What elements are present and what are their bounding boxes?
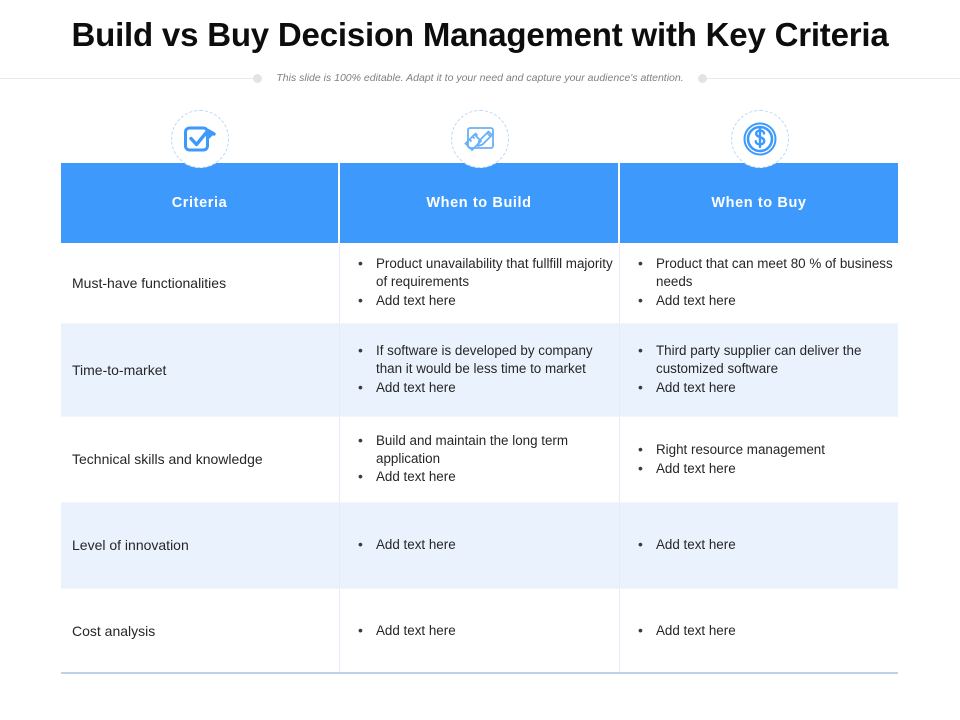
bullet-item: Third party supplier can deliver the cus… (634, 342, 898, 378)
bullet-item: Right resource management (634, 441, 898, 459)
table-row: Cost analysis Add text here Add text her… (61, 589, 898, 674)
decorative-rule-right (707, 78, 960, 79)
buy-bullet-list: Add text here (620, 622, 898, 641)
buy-bullet-list: Third party supplier can deliver the cus… (620, 342, 898, 398)
column-header-criteria: Criteria (61, 163, 340, 243)
cell-build: Build and maintain the long term applica… (340, 417, 620, 502)
cell-buy: Add text here (620, 589, 898, 673)
decorative-rule-left (0, 78, 253, 79)
criteria-label: Technical skills and knowledge (61, 450, 263, 469)
cell-build: Add text here (340, 503, 620, 588)
bullet-item: Build and maintain the long term applica… (354, 432, 619, 468)
table-header-row: Criteria When to Build When to Buy (61, 163, 898, 243)
buy-bullet-list: Add text here (620, 536, 898, 555)
slide-subtitle: This slide is 100% editable. Adapt it to… (262, 72, 697, 84)
cell-buy: Product that can meet 80 % of business n… (620, 243, 898, 323)
cell-build: Product unavailability that fullfill maj… (340, 243, 620, 323)
bullet-item: Add text here (634, 460, 898, 478)
bullet-item: Product that can meet 80 % of business n… (634, 255, 898, 291)
ruler-pencil-icon (462, 122, 498, 156)
bullet-item: Add text here (354, 468, 619, 486)
bullet-item: Add text here (354, 622, 619, 640)
checkbox-check-icon (183, 123, 217, 155)
cell-build: If software is developed by company than… (340, 324, 620, 416)
cell-criteria: Time-to-market (61, 324, 340, 416)
bullet-item: Product unavailability that fullfill maj… (354, 255, 619, 291)
criteria-icon-badge (171, 110, 229, 168)
bullet-item: Add text here (634, 292, 898, 310)
criteria-label: Time-to-market (61, 361, 166, 380)
cell-buy: Third party supplier can deliver the cus… (620, 324, 898, 416)
table-row: Technical skills and knowledge Build and… (61, 417, 898, 503)
table-bottom-rule (61, 672, 898, 674)
bullet-item: If software is developed by company than… (354, 342, 619, 378)
build-bullet-list: Add text here (340, 536, 619, 555)
buy-bullet-list: Product that can meet 80 % of business n… (620, 255, 898, 311)
buy-icon-badge (731, 110, 789, 168)
bullet-item: Add text here (354, 379, 619, 397)
table-row: Level of innovation Add text here Add te… (61, 503, 898, 589)
criteria-label: Cost analysis (61, 622, 155, 641)
bullet-item: Add text here (634, 622, 898, 640)
bullet-item: Add text here (354, 536, 619, 554)
cell-build: Add text here (340, 589, 620, 673)
build-bullet-list: If software is developed by company than… (340, 342, 619, 398)
criteria-table: Criteria When to Build When to Buy Must-… (61, 163, 898, 674)
build-bullet-list: Build and maintain the long term applica… (340, 432, 619, 488)
page-title: Build vs Buy Decision Management with Ke… (0, 16, 960, 54)
cell-buy: Add text here (620, 503, 898, 588)
table-row: Time-to-market If software is developed … (61, 324, 898, 417)
cell-criteria: Cost analysis (61, 589, 340, 673)
build-icon-badge (451, 110, 509, 168)
criteria-label: Must-have functionalities (61, 274, 226, 293)
column-header-when-to-buy: When to Buy (620, 163, 898, 243)
column-header-when-to-build: When to Build (340, 163, 620, 243)
buy-bullet-list: Right resource management Add text here (620, 441, 898, 479)
dollar-coin-icon (742, 121, 778, 157)
table-row: Must-have functionalities Product unavai… (61, 243, 898, 324)
cell-criteria: Technical skills and knowledge (61, 417, 340, 502)
build-bullet-list: Product unavailability that fullfill maj… (340, 255, 619, 311)
build-bullet-list: Add text here (340, 622, 619, 641)
subtitle-row: This slide is 100% editable. Adapt it to… (0, 68, 960, 88)
decorative-dot-right (698, 74, 707, 83)
cell-criteria: Must-have functionalities (61, 243, 340, 323)
bullet-item: Add text here (634, 379, 898, 397)
cell-criteria: Level of innovation (61, 503, 340, 588)
bullet-item: Add text here (634, 536, 898, 554)
cell-buy: Right resource management Add text here (620, 417, 898, 502)
criteria-label: Level of innovation (61, 536, 189, 555)
slide-canvas: Build vs Buy Decision Management with Ke… (0, 0, 960, 720)
decorative-dot-left (253, 74, 262, 83)
bullet-item: Add text here (354, 292, 619, 310)
